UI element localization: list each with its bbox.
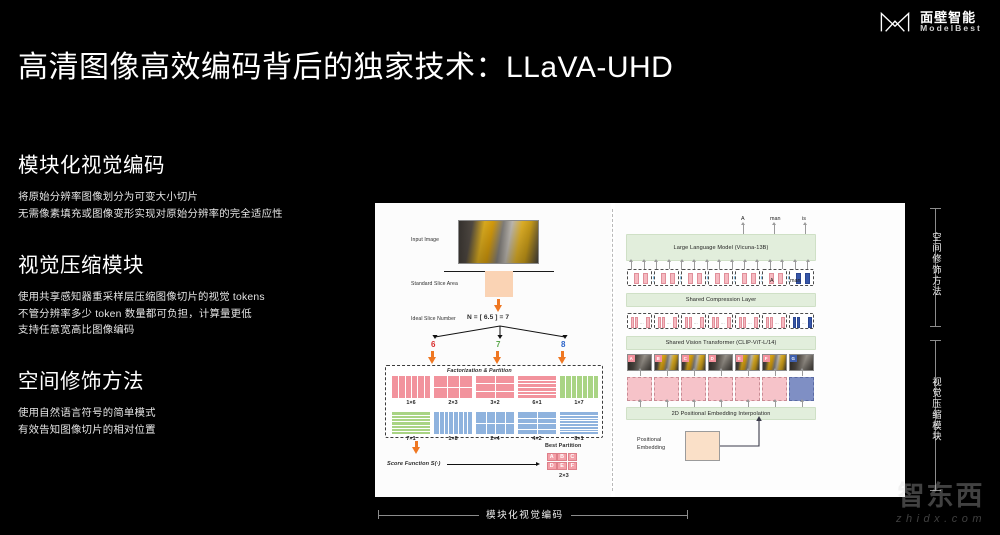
partition-tile bbox=[476, 412, 514, 434]
grid-line bbox=[476, 391, 514, 392]
grid-line bbox=[587, 376, 588, 398]
brand-text: 面壁智能 ModelBest bbox=[920, 11, 982, 34]
grid-line bbox=[392, 425, 430, 426]
best-partition-cell: F bbox=[568, 462, 578, 470]
annotation-modular-encoding: 模块化视觉编码 bbox=[479, 507, 571, 521]
bracket-tick bbox=[930, 340, 941, 341]
ideal-slice-formula: N = [ 6.5 ] = 7 bbox=[467, 314, 509, 321]
ellipsis-icon: ⋯ bbox=[694, 321, 698, 326]
architecture-diagram: Input Image Standard Slice Area Ideal Sl… bbox=[375, 203, 905, 497]
section-line: 将原始分辨率图像划分为可变大小切片 bbox=[18, 190, 364, 207]
down-arrow-icon bbox=[493, 351, 502, 364]
compression-layer-block: Shared Compression Layer bbox=[626, 293, 816, 307]
visual-token bbox=[743, 317, 747, 328]
grid-line bbox=[417, 376, 418, 398]
grid-line bbox=[560, 423, 598, 424]
grid-line bbox=[463, 412, 464, 434]
visual-token bbox=[797, 317, 801, 328]
brand-logo: 面壁智能 ModelBest bbox=[878, 9, 982, 35]
visual-token bbox=[754, 317, 758, 328]
ellipsis-icon: ⋯ bbox=[667, 321, 671, 326]
visual-token bbox=[778, 273, 783, 284]
up-arrow-icon bbox=[805, 225, 806, 234]
pe-connector-icon bbox=[719, 415, 764, 449]
section-line: 无需像素填充或图像变形实现对原始分辨率的完全适应性 bbox=[18, 207, 364, 224]
slice-tag: C bbox=[682, 355, 689, 362]
grid-line bbox=[467, 412, 468, 434]
partition-label: 2×3 bbox=[434, 400, 472, 406]
up-arrow-icon bbox=[743, 225, 744, 234]
positional-embedding-swatch bbox=[685, 431, 720, 461]
grid-line bbox=[560, 420, 598, 421]
visual-token bbox=[724, 273, 729, 284]
partition-tile bbox=[518, 376, 556, 398]
section-title: 空间修饰方法 bbox=[18, 364, 364, 394]
grid-line bbox=[458, 412, 459, 434]
visual-token bbox=[670, 273, 675, 284]
visual-token bbox=[689, 317, 693, 328]
feature-block bbox=[735, 377, 760, 401]
annotation-spatial-schema: 空间修饰方法 bbox=[929, 232, 943, 297]
arrow-head-icon bbox=[536, 462, 540, 466]
decoder-token: man bbox=[790, 278, 801, 284]
grid-line bbox=[571, 376, 572, 398]
grid-line bbox=[424, 376, 425, 398]
partition-label: 1×8 bbox=[434, 436, 472, 442]
grid-line bbox=[518, 380, 556, 381]
feature-block bbox=[654, 377, 679, 401]
up-arrow-icon bbox=[748, 371, 749, 376]
slice-tag: F bbox=[763, 355, 770, 362]
panel-divider bbox=[612, 209, 613, 491]
partition-label: 1×7 bbox=[560, 400, 598, 406]
ellipsis-icon: ⋯ bbox=[775, 321, 779, 326]
slide-root: 面壁智能 ModelBest 高清图像高效编码背后的独家技术：LLaVA-UHD… bbox=[0, 0, 1000, 535]
grid-line bbox=[565, 376, 566, 398]
section-line: 有效告知图像切片的相对位置 bbox=[18, 423, 364, 440]
bracket-tick bbox=[930, 208, 941, 209]
ellipsis-icon: ⋯ bbox=[721, 321, 725, 326]
ellipsis-icon: ⋯ bbox=[640, 321, 644, 326]
section-spatial-schema: 空间修饰方法 使用自然语言符号的简单模式 有效告知图像切片的相对位置 bbox=[18, 364, 364, 440]
watermark: 智东西 zhidx.com bbox=[896, 483, 986, 525]
standard-slice-area-swatch bbox=[485, 271, 513, 297]
visual-token bbox=[751, 273, 756, 284]
up-arrow-icon bbox=[802, 371, 803, 376]
visual-token bbox=[715, 273, 720, 284]
visual-token bbox=[770, 317, 774, 328]
slice-tag: G bbox=[790, 355, 797, 362]
brand-name-cn: 面壁智能 bbox=[920, 11, 982, 25]
grid-line bbox=[518, 429, 556, 430]
visual-token bbox=[808, 317, 812, 328]
visual-token bbox=[635, 317, 639, 328]
partition-tile bbox=[434, 376, 472, 398]
token-group bbox=[681, 269, 706, 286]
section-title: 模块化视觉编码 bbox=[18, 148, 364, 178]
partition-label: 4×2 bbox=[518, 436, 556, 442]
vision-transformer-block: Shared Vision Transformer (CLIP-ViT-L/14… bbox=[626, 336, 816, 350]
up-arrow-icon bbox=[774, 225, 775, 234]
grid-line bbox=[560, 426, 598, 427]
grid-line bbox=[518, 394, 556, 395]
partition-tile bbox=[434, 412, 472, 434]
best-partition-cell: B bbox=[557, 453, 567, 461]
visual-token bbox=[700, 317, 704, 328]
partition-tile bbox=[518, 412, 556, 434]
grid-line bbox=[560, 429, 598, 430]
standard-slice-area-label: Standard Slice Area bbox=[411, 281, 458, 287]
grid-line bbox=[392, 418, 430, 419]
section-line: 支持任意宽高比图像编码 bbox=[18, 323, 364, 340]
up-arrow-icon bbox=[694, 371, 695, 376]
up-arrow-icon bbox=[775, 371, 776, 376]
token-group bbox=[708, 269, 733, 286]
up-arrow-icon bbox=[667, 371, 668, 376]
grid-line bbox=[448, 412, 449, 434]
grid-line bbox=[518, 387, 556, 388]
slice-tag: D bbox=[709, 355, 716, 362]
visual-token bbox=[661, 273, 666, 284]
visual-token bbox=[688, 273, 693, 284]
bracket-tick bbox=[687, 510, 688, 519]
input-image-thumbnail bbox=[458, 220, 539, 264]
token-group bbox=[627, 269, 652, 286]
compressed-token-group: ⋯ bbox=[708, 313, 733, 329]
grid-line bbox=[444, 412, 445, 434]
feature-block bbox=[627, 377, 652, 401]
compressed-token-group: ⋯ bbox=[735, 313, 760, 329]
annotation-visual-compression: 视觉压缩模块 bbox=[929, 377, 943, 442]
grid-line bbox=[495, 376, 496, 398]
grid-line bbox=[476, 423, 514, 424]
best-partition-label: Best Partition bbox=[545, 443, 581, 449]
grid-line bbox=[518, 391, 556, 392]
partition-label: 8×1 bbox=[560, 436, 598, 442]
bracket-tick bbox=[930, 326, 941, 327]
bracket-tick bbox=[378, 510, 379, 519]
visual-token bbox=[742, 273, 747, 284]
section-line: 不管分辨率多少 token 数量都可负担，计算量更低 bbox=[18, 307, 364, 324]
visual-token bbox=[673, 317, 677, 328]
grid-line bbox=[593, 376, 594, 398]
grid-line bbox=[560, 418, 598, 419]
visual-token bbox=[781, 317, 785, 328]
down-arrow-icon bbox=[558, 351, 567, 364]
partition-label: 7×1 bbox=[392, 436, 430, 442]
grid-line bbox=[453, 412, 454, 434]
grid-line bbox=[392, 431, 430, 432]
modelbest-logo-icon bbox=[878, 9, 912, 35]
partition-tile bbox=[476, 376, 514, 398]
grid-line bbox=[560, 431, 598, 432]
compressed-token-group: ⋯ bbox=[627, 313, 652, 329]
slice-tag: E bbox=[736, 355, 743, 362]
page-title: 高清图像高效编码背后的独家技术：LLaVA-UHD bbox=[18, 42, 673, 86]
best-partition-cell: C bbox=[568, 453, 578, 461]
grid-line bbox=[518, 418, 556, 419]
grid-line bbox=[582, 376, 583, 398]
up-arrow-icon bbox=[721, 371, 722, 376]
slice-tag: A bbox=[628, 355, 635, 362]
section-title: 视觉压缩模块 bbox=[18, 248, 364, 278]
visual-token bbox=[727, 317, 731, 328]
left-text-column: 模块化视觉编码 将原始分辨率图像划分为可变大小切片 无需像素填充或图像变形实现对… bbox=[18, 148, 364, 464]
grid-line bbox=[439, 412, 440, 434]
visual-token bbox=[805, 273, 810, 284]
up-arrow-icon bbox=[640, 371, 641, 376]
down-arrow-icon bbox=[412, 441, 421, 454]
partition-label: 2×4 bbox=[476, 436, 514, 442]
best-partition-cell: E bbox=[557, 462, 567, 470]
feature-block bbox=[708, 377, 733, 401]
visual-token bbox=[716, 317, 720, 328]
section-visual-compression: 视觉压缩模块 使用共享感知器重采样层压缩图像切片的视觉 tokens 不管分辨率… bbox=[18, 248, 364, 341]
compressed-token-group: ⋯ bbox=[654, 313, 679, 329]
down-arrow-icon bbox=[494, 299, 503, 312]
token-group bbox=[735, 269, 760, 286]
grid-line bbox=[398, 376, 399, 398]
partition-tile bbox=[560, 412, 598, 434]
grid-line bbox=[518, 423, 556, 424]
partition-label: 3×2 bbox=[476, 400, 514, 406]
ideal-slice-number-label: Ideal Slice Number bbox=[411, 316, 456, 322]
feature-block bbox=[681, 377, 706, 401]
candidate-number-7: 7 bbox=[496, 340, 500, 349]
token-group bbox=[654, 269, 679, 286]
grid-line bbox=[392, 421, 430, 422]
brand-name-en: ModelBest bbox=[920, 24, 982, 33]
ellipsis-icon: ⋯ bbox=[748, 321, 752, 326]
visual-token bbox=[634, 273, 639, 284]
best-partition-cell: A bbox=[547, 453, 557, 461]
score-arrow-line bbox=[447, 464, 537, 465]
compressed-token-group: ⋯ bbox=[762, 313, 787, 329]
slice-tag: B bbox=[655, 355, 662, 362]
grid-line bbox=[434, 387, 472, 388]
grid-line bbox=[576, 376, 577, 398]
token-group bbox=[762, 269, 787, 286]
positional-embedding-label: Positional Embedding bbox=[637, 437, 677, 453]
visual-token bbox=[646, 317, 650, 328]
grid-line bbox=[411, 376, 412, 398]
visual-token bbox=[643, 273, 648, 284]
input-image-label: Input Image bbox=[411, 237, 439, 243]
partition-tile bbox=[392, 376, 430, 398]
partition-tile bbox=[560, 376, 598, 398]
branch-arrows-icon bbox=[415, 323, 585, 341]
grid-line bbox=[518, 383, 556, 384]
visual-token bbox=[697, 273, 702, 284]
best-partition-shape: 2×3 bbox=[559, 473, 569, 479]
feature-block bbox=[762, 377, 787, 401]
best-partition-cell: D bbox=[547, 462, 557, 470]
partition-label: 6×1 bbox=[518, 400, 556, 406]
visual-token bbox=[662, 317, 666, 328]
llm-block: Large Language Model (Vicuna-13B) bbox=[626, 234, 816, 261]
feature-block bbox=[789, 377, 814, 401]
section-line: 使用共享感知器重采样层压缩图像切片的视觉 tokens bbox=[18, 290, 364, 307]
section-modular-visual-encoding: 模块化视觉编码 将原始分辨率图像划分为可变大小切片 无需像素填充或图像变形实现对… bbox=[18, 148, 364, 224]
partition-tile bbox=[392, 412, 430, 434]
compressed-token-group: ⋯ bbox=[789, 313, 814, 329]
score-function-label: Score Function S(·) bbox=[387, 461, 441, 467]
ellipsis-icon: ⋯ bbox=[802, 321, 806, 326]
candidate-number-6: 6 bbox=[431, 340, 435, 349]
decoder-token: A bbox=[770, 278, 774, 284]
watermark-cn: 智东西 bbox=[896, 483, 986, 510]
best-partition-grid: ABCDEF bbox=[547, 453, 577, 470]
grid-line bbox=[392, 428, 430, 429]
grid-line bbox=[560, 415, 598, 416]
partition-label: 1×6 bbox=[392, 400, 430, 406]
down-arrow-icon bbox=[428, 351, 437, 364]
grid-line bbox=[392, 415, 430, 416]
watermark-en: zhidx.com bbox=[896, 513, 986, 525]
section-line: 使用自然语言符号的简单模式 bbox=[18, 406, 364, 423]
factorization-title: Factorization & Partition bbox=[447, 368, 512, 374]
grid-line bbox=[476, 383, 514, 384]
compressed-token-group: ⋯ bbox=[681, 313, 706, 329]
candidate-number-8: 8 bbox=[561, 340, 565, 349]
grid-line bbox=[405, 376, 406, 398]
